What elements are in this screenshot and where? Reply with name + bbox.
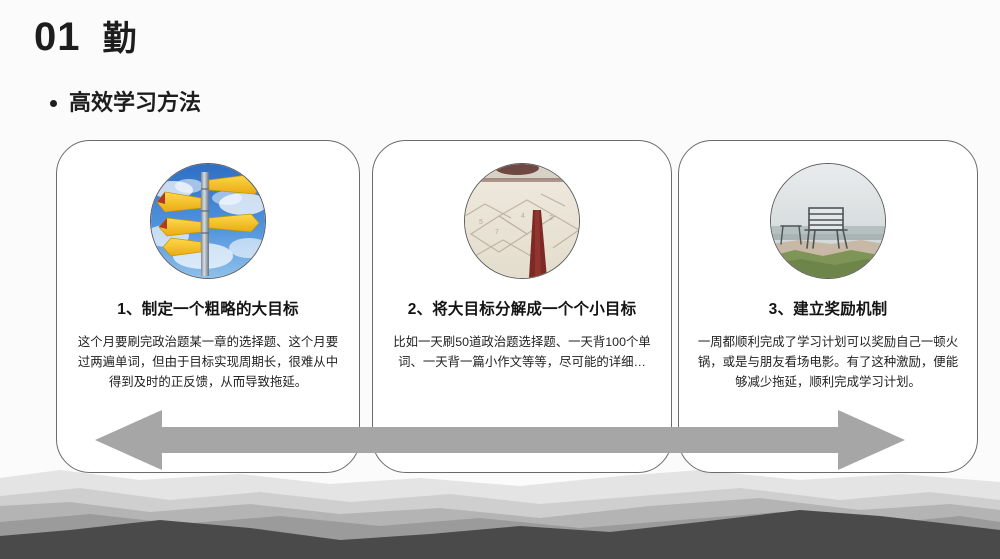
section-heading: 01 勤 — [34, 17, 137, 57]
subtitle-row: 高效学习方法 — [50, 92, 201, 114]
card-heading: 2、将大目标分解成一个个小目标 — [408, 301, 637, 320]
card-2[interactable]: 7 4 5 2 2、将大目标分解成一个个小目标 比如一天刷50道政治题选择题、一… — [372, 140, 672, 473]
card-3[interactable]: 3、建立奖励机制 一周都顺利完成了学习计划可以奖励自己一顿火锅，或是与朋友看场电… — [678, 140, 978, 473]
svg-text:4: 4 — [521, 213, 525, 220]
card-1[interactable]: 1、制定一个粗略的大目标 这个月要刷完政治题某一章的选择题、这个月要过两遍单词，… — [56, 140, 360, 473]
cards-container: 1、制定一个粗略的大目标 这个月要刷完政治题某一章的选择题、这个月要过两遍单词，… — [0, 140, 1000, 475]
card-body: 一周都顺利完成了学习计划可以奖励自己一顿火锅，或是与朋友看场电影。有了这种激励，… — [697, 332, 959, 392]
bullet-dot-icon — [50, 100, 57, 107]
svg-text:2: 2 — [549, 215, 553, 222]
slide-root: 01 勤 高效学习方法 — [0, 0, 1000, 559]
svg-text:7: 7 — [495, 229, 499, 236]
hopscotch-photo: 7 4 5 2 — [464, 163, 580, 279]
card-body: 比如一天刷50道政治题选择题、一天背100个单词、一天背一篇小作文等等，尽可能的… — [391, 332, 653, 372]
subtitle-text: 高效学习方法 — [69, 92, 201, 114]
card-body: 这个月要刷完政治题某一章的选择题、这个月要过两遍单词，但由于目标实现周期长，很难… — [77, 332, 339, 392]
section-title: 勤 — [103, 22, 137, 56]
section-number: 01 — [34, 17, 81, 57]
card-heading: 3、建立奖励机制 — [769, 301, 888, 320]
bench-seaside-photo — [770, 163, 886, 279]
card-heading: 1、制定一个粗略的大目标 — [117, 301, 299, 320]
svg-text:5: 5 — [479, 219, 483, 226]
signpost-photo — [150, 163, 266, 279]
